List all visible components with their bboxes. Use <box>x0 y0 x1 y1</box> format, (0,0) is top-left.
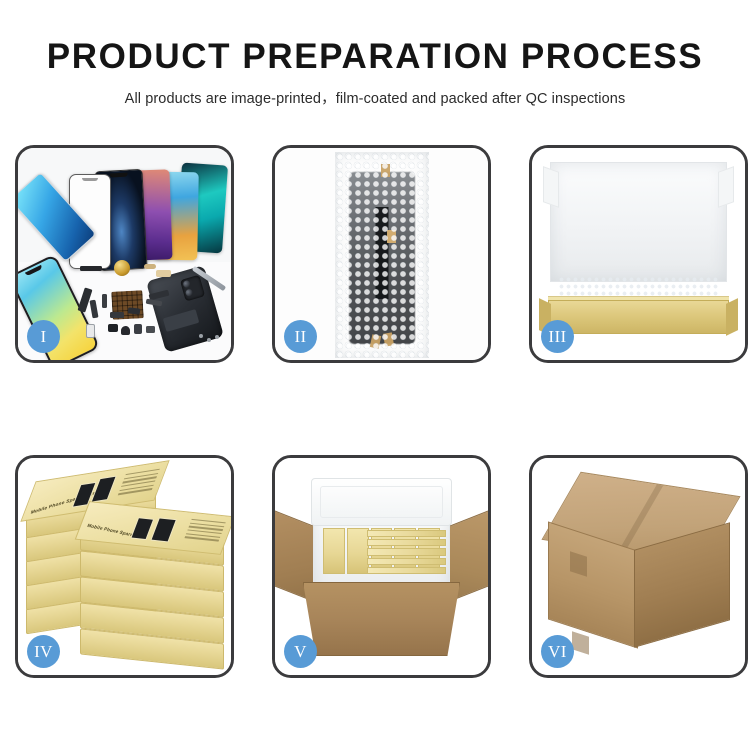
foam-lid <box>311 478 452 526</box>
spare-part <box>134 324 142 334</box>
part-strap <box>375 207 388 299</box>
spare-part <box>146 326 155 333</box>
step-badge-3: III <box>541 320 574 353</box>
spare-part <box>102 294 107 308</box>
tape-piece <box>387 230 396 243</box>
spare-part <box>108 324 118 332</box>
step-badge-2: II <box>284 320 317 353</box>
spare-part <box>121 326 130 335</box>
page-subtitle: All products are image-printed，film-coat… <box>0 87 750 108</box>
process-step-panel-1[interactable]: I <box>15 145 234 363</box>
box-print-text-lines <box>117 469 160 498</box>
spare-part <box>80 266 102 271</box>
spare-part <box>110 312 124 318</box>
bubble-wrap-bag <box>335 152 429 358</box>
spare-part <box>86 324 95 338</box>
spare-part <box>144 264 156 269</box>
spare-part <box>156 270 171 277</box>
packed-boxes-column <box>367 530 446 574</box>
spare-part <box>128 307 141 314</box>
step-badge-4: IV <box>27 635 60 668</box>
process-step-grid: I II III <box>15 145 737 678</box>
process-step-panel-2[interactable]: II <box>272 145 491 363</box>
process-step-panel-4[interactable]: Mobile Phone Spare Parts Mobile Phone Sp… <box>15 455 234 678</box>
step-badge-5: V <box>284 635 317 668</box>
page-title: PRODUCT PREPARATION PROCESS <box>0 38 750 77</box>
speaker-coin-part <box>114 260 130 276</box>
open-box-lid <box>550 162 727 282</box>
page-header: PRODUCT PREPARATION PROCESS All products… <box>0 0 750 108</box>
step-badge-6: VI <box>541 635 574 668</box>
tape-piece <box>369 334 381 349</box>
battery-strip <box>163 309 200 332</box>
carton-body <box>303 582 460 656</box>
process-step-panel-5[interactable]: V <box>272 455 491 678</box>
tape-piece <box>381 164 390 177</box>
box-print-text-lines <box>184 519 226 544</box>
step-badge-1: I <box>27 320 60 353</box>
process-step-panel-6[interactable]: VI <box>529 455 748 678</box>
tape-piece <box>382 332 393 346</box>
carton-seam <box>619 485 664 552</box>
box-print-phone-image <box>150 517 177 542</box>
box-front-panel <box>548 300 729 334</box>
screws-group <box>199 334 221 344</box>
process-step-panel-3[interactable]: III <box>529 145 748 363</box>
box-print-phone-image <box>91 476 117 503</box>
camera-module-icon <box>180 275 205 302</box>
